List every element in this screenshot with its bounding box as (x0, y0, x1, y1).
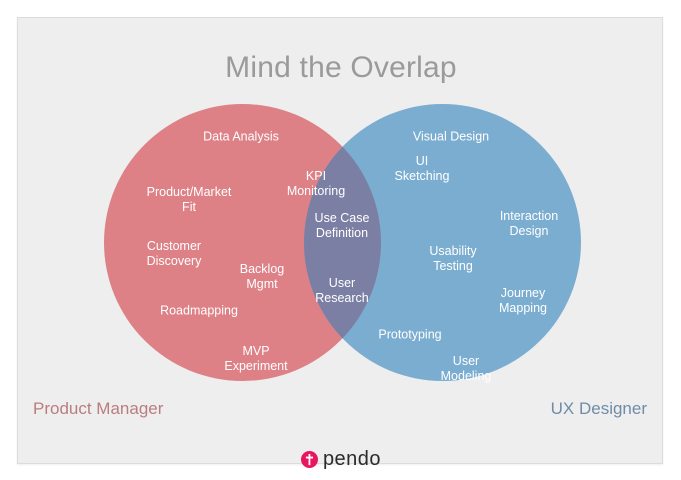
pendo-mark-icon (301, 451, 318, 468)
role-label-product-manager: Product Manager (33, 399, 163, 419)
venn-overlap-clip (304, 104, 381, 381)
slide-root: Mind the Overlap Data AnalysisKPI Monito… (0, 0, 681, 480)
role-label-ux-designer: UX Designer (551, 399, 647, 419)
pendo-logo: pendo (18, 448, 664, 471)
page-title: Mind the Overlap (18, 51, 664, 85)
venn-diagram: Data AnalysisKPI MonitoringProduct/Marke… (104, 104, 581, 382)
venn-overlap-region[interactable] (304, 104, 381, 381)
pendo-wordmark: pendo (323, 448, 381, 471)
venn-overlap-fill (304, 104, 381, 381)
slide-card: Mind the Overlap Data AnalysisKPI Monito… (17, 17, 663, 464)
